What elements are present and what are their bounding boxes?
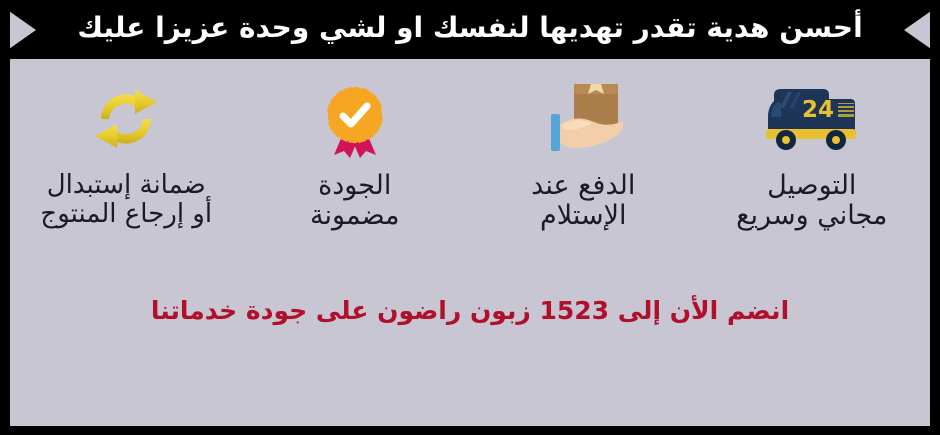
svg-text:24: 24 — [802, 97, 834, 123]
feature-item-free-fast-delivery: 24 التوصيل مجاني وسريع — [698, 81, 927, 231]
feature-label: الدفع عند الإستلام — [531, 171, 635, 231]
features-row: ضمانة إستبدال أو إرجاع المنتوج — [10, 59, 930, 274]
feature-label: ضمانة إستبدال أو إرجاع المنتوج — [40, 171, 212, 229]
page-title: أحسن هدية تقدر تهديها لنفسك او لشي وحدة … — [77, 14, 862, 45]
triangle-left-icon — [904, 9, 934, 51]
triangle-right-icon — [6, 9, 36, 51]
quality-badge-icon — [314, 81, 396, 157]
hand-holding-box-icon — [537, 81, 629, 157]
exchange-arrows-icon — [85, 81, 167, 157]
header-ribbon: أحسن هدية تقدر تهديها لنفسك او لشي وحدة … — [0, 0, 940, 59]
delivery-van-24-icon: 24 — [762, 81, 862, 157]
feature-item-exchange-guarantee: ضمانة إستبدال أو إرجاع المنتوج — [12, 81, 241, 229]
cta-text: انضم الأن إلى 1523 زبون راضون على جودة خ… — [10, 296, 930, 325]
feature-label: الجودة مضمونة — [310, 171, 399, 231]
trust-badges-banner: أحسن هدية تقدر تهديها لنفسك او لشي وحدة … — [0, 0, 940, 435]
feature-item-cash-on-delivery: الدفع عند الإستلام — [469, 81, 698, 231]
feature-item-quality-guaranteed: الجودة مضمونة — [241, 81, 470, 231]
feature-label: التوصيل مجاني وسريع — [736, 171, 887, 231]
